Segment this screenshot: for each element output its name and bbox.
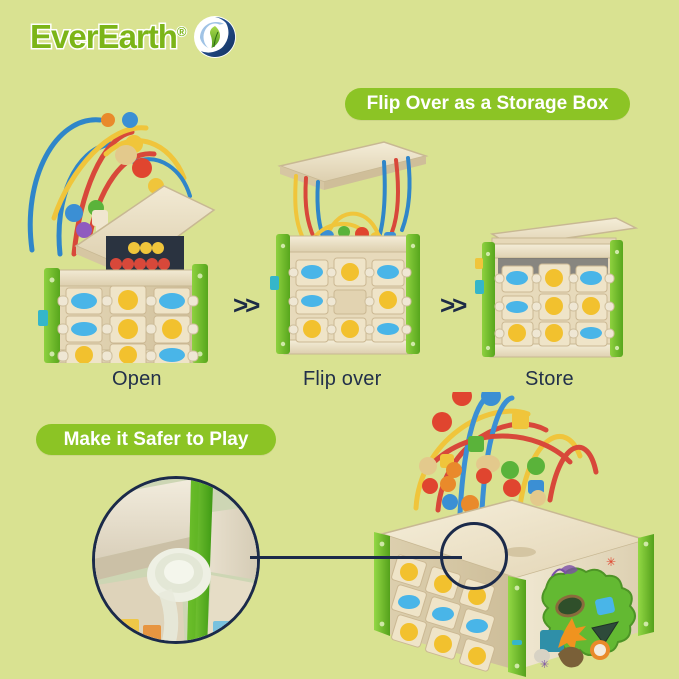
banner-safety: Make it Safer to Play: [36, 424, 276, 455]
caption-store: Store: [525, 368, 574, 391]
magnifier-circle-safety-detail: [92, 476, 260, 644]
svg-text:✳: ✳: [606, 555, 616, 569]
step-arrow-2: >>: [440, 290, 464, 321]
globe-leaf-icon: [192, 14, 238, 60]
callout-connector-line: [250, 556, 462, 559]
svg-text:✳: ✳: [540, 659, 549, 671]
banner-storage-box: Flip Over as a Storage Box: [345, 88, 630, 120]
caption-flip-over: Flip over: [303, 368, 382, 391]
callout-target-circle: [440, 522, 508, 590]
brand-name: EverEarth®: [30, 18, 186, 56]
step-arrow-1: >>: [233, 290, 257, 321]
caption-open: Open: [112, 368, 162, 391]
brand-logo: EverEarth®: [30, 14, 238, 60]
figure-activity-cube-stored: [468, 212, 640, 364]
figure-activity-cube-flipped: [266, 136, 431, 364]
figure-activity-cube-hero: ✳ ✳: [360, 392, 670, 677]
infographic-canvas: EverEarth® Flip Over as a: [0, 0, 679, 679]
registered-mark: ®: [177, 24, 186, 39]
figure-activity-cube-open: [14, 58, 234, 363]
